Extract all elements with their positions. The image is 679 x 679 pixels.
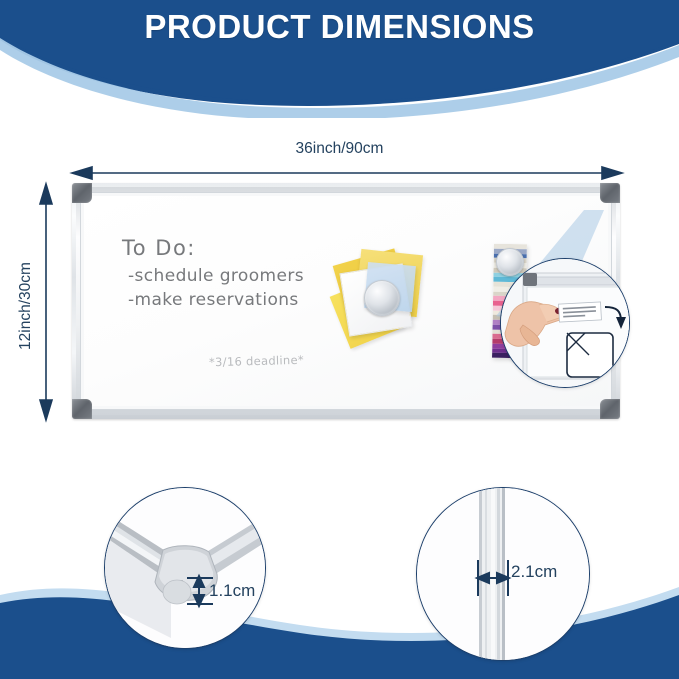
inset-frame-edge-detail bbox=[416, 487, 590, 661]
corner-bracket-illustration bbox=[105, 488, 265, 648]
corner-bracket-icon bbox=[72, 399, 92, 419]
corner-peel-diagram bbox=[567, 333, 613, 377]
protective-film-tab bbox=[559, 302, 602, 322]
height-dimension-label: 12inch/30cm bbox=[17, 236, 35, 376]
corner-bracket-icon bbox=[72, 183, 92, 203]
corner-thickness-label: 1.1cm bbox=[209, 581, 255, 601]
frame-edge-illustration bbox=[417, 488, 589, 660]
width-dimension-label: 36inch/90cm bbox=[0, 140, 679, 158]
inset-corner-bracket-detail bbox=[104, 487, 266, 649]
product-dimensions-infographic: PRODUCT DIMENSIONS 36inch/90cm 12inch/30… bbox=[0, 0, 679, 679]
inset-protective-film-peel bbox=[500, 258, 630, 388]
film-peel-illustration bbox=[501, 259, 629, 387]
corner-bracket-icon bbox=[600, 399, 620, 419]
page-title: PRODUCT DIMENSIONS bbox=[0, 8, 679, 46]
corner-bracket-icon bbox=[600, 183, 620, 203]
width-arrow bbox=[72, 167, 622, 179]
height-arrow bbox=[40, 184, 52, 420]
frame-depth-label: 2.1cm bbox=[511, 562, 557, 582]
header-banner: PRODUCT DIMENSIONS bbox=[0, 0, 679, 118]
